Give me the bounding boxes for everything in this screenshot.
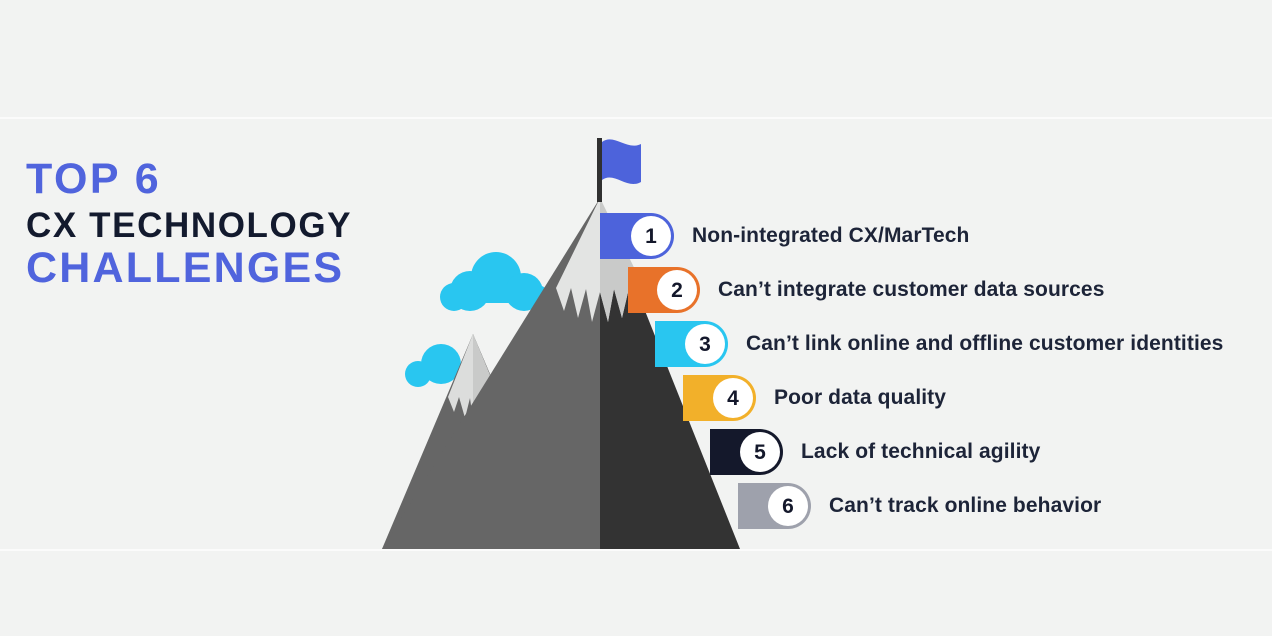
- challenge-number-5: 5: [740, 432, 780, 472]
- challenge-number-4: 4: [713, 378, 753, 418]
- challenge-list: 1 Non-integrated CX/MarTech 2 Can’t inte…: [0, 0, 1272, 636]
- challenge-number-3: 3: [685, 324, 725, 364]
- challenge-pill-2: 2: [628, 267, 700, 313]
- challenge-number-2: 2: [657, 270, 697, 310]
- challenge-pill-4: 4: [683, 375, 756, 421]
- challenge-label-2: Can’t integrate customer data sources: [718, 278, 1104, 302]
- infographic-slide: TOP 6 CX TECHNOLOGY CHALLENGES: [0, 0, 1272, 636]
- challenge-number-1: 1: [631, 216, 671, 256]
- challenge-label-1: Non-integrated CX/MarTech: [692, 224, 969, 248]
- challenge-row-6[interactable]: 6 Can’t track online behavior: [738, 483, 1101, 529]
- challenge-number-6: 6: [768, 486, 808, 526]
- challenge-pill-6: 6: [738, 483, 811, 529]
- challenge-label-5: Lack of technical agility: [801, 440, 1040, 464]
- challenge-pill-3: 3: [655, 321, 728, 367]
- challenge-label-3: Can’t link online and offline customer i…: [746, 332, 1223, 356]
- challenge-row-5[interactable]: 5 Lack of technical agility: [710, 429, 1040, 475]
- challenge-row-3[interactable]: 3 Can’t link online and offline customer…: [655, 321, 1223, 367]
- challenge-pill-5: 5: [710, 429, 783, 475]
- challenge-pill-1: 1: [600, 213, 674, 259]
- challenge-row-2[interactable]: 2 Can’t integrate customer data sources: [628, 267, 1104, 313]
- challenge-label-6: Can’t track online behavior: [829, 494, 1101, 518]
- challenge-label-4: Poor data quality: [774, 386, 946, 410]
- challenge-row-4[interactable]: 4 Poor data quality: [683, 375, 946, 421]
- challenge-row-1[interactable]: 1 Non-integrated CX/MarTech: [600, 213, 969, 259]
